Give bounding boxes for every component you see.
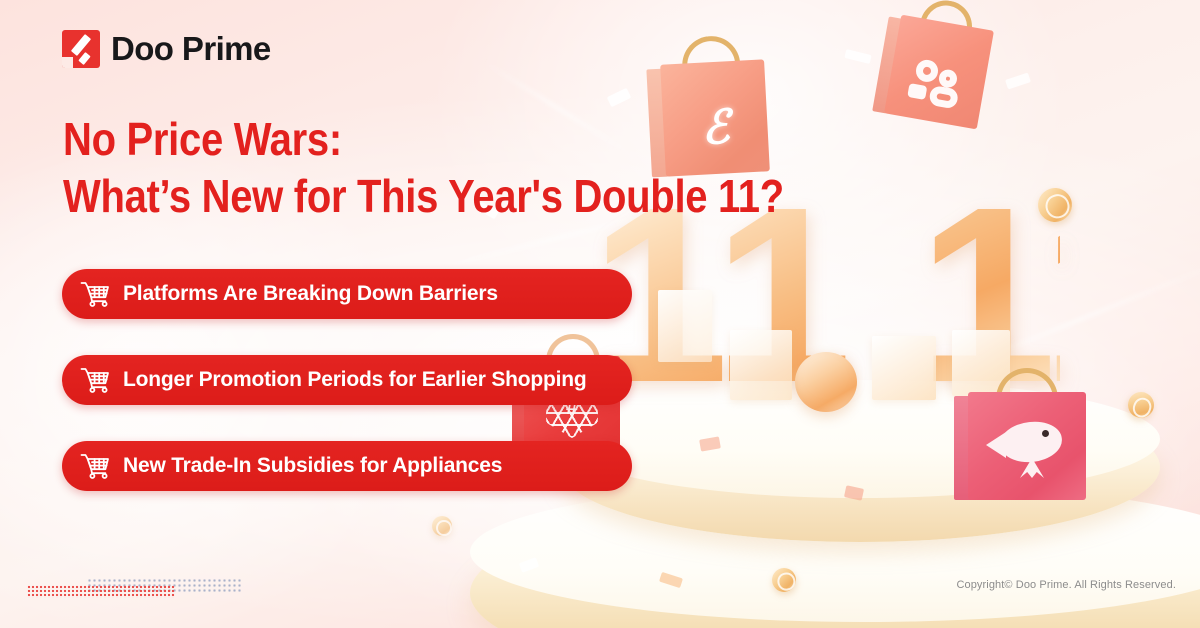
fish-tail (986, 432, 1006, 458)
feature-pill-label: Longer Promotion Periods for Earlier Sho… (123, 368, 587, 392)
logo-notch (62, 57, 73, 68)
bag-handle (996, 368, 1058, 400)
headline-line-1: No Price Wars: (63, 114, 342, 165)
gold-coin-icon (1124, 388, 1158, 422)
podium-upper-tier (560, 392, 1160, 542)
brand-name: Doo Prime (111, 30, 271, 68)
shopping-bag-fish-icon (968, 392, 1086, 500)
fish-fin (1020, 458, 1044, 478)
bag-handle (920, 0, 976, 35)
confetti-chip (519, 557, 539, 573)
confetti-chip (659, 572, 683, 588)
gold-coin-icon (1034, 184, 1077, 227)
headline-line-2: What’s New for This Year's Double 11? (63, 169, 784, 226)
gold-coin-icon (770, 566, 798, 594)
confetti-chip (699, 436, 721, 451)
feature-pill-3[interactable]: New Trade-In Subsidies for Appliances (62, 441, 632, 491)
confetti-chip (607, 88, 632, 108)
bag-ring-mark (914, 58, 939, 83)
fish-eye (1042, 430, 1049, 437)
feature-pill-label: New Trade-In Subsidies for Appliances (123, 454, 502, 478)
numeral-separator-dot (795, 352, 857, 412)
bag-handle (681, 35, 741, 72)
bag-ring-mark (938, 68, 959, 89)
confetti-chip (844, 485, 864, 500)
confetti-chip (1005, 73, 1031, 90)
feature-pill-label: Platforms Are Breaking Down Barriers (123, 282, 498, 306)
bag-front-panel (884, 15, 994, 130)
halftone-dot-strip (27, 578, 243, 600)
promo-banner: 11 11 ℰ # (0, 0, 1200, 628)
bag-ring-mark (907, 83, 927, 100)
podium-upper-top-face (560, 380, 1160, 498)
doo-prime-logo-mark (62, 30, 100, 68)
feature-list: Platforms Are Breaking Down Barriers Lon… (62, 269, 632, 527)
feature-pill-2[interactable]: Longer Promotion Periods for Earlier Sho… (62, 355, 632, 405)
halftone-dots-red (27, 585, 175, 598)
shopping-cart-icon (80, 453, 110, 479)
confetti-card (730, 330, 792, 400)
logo-slash-lower (78, 52, 90, 65)
confetti-chip (844, 49, 871, 64)
logo-slash-upper (71, 34, 91, 56)
fish-body (998, 419, 1064, 465)
shopping-cart-icon (80, 281, 110, 307)
feature-pill-1[interactable]: Platforms Are Breaking Down Barriers (62, 269, 632, 319)
bag-front-panel (968, 392, 1086, 500)
confetti-card (872, 336, 936, 400)
page-title: No Price Wars: What’s New for This Year'… (63, 112, 784, 226)
shopping-cart-icon (80, 367, 110, 393)
bag-ring-mark (928, 85, 959, 110)
confetti-card (952, 330, 1010, 396)
bag-side-panel (872, 16, 903, 113)
bag-side-panel (954, 396, 973, 500)
light-streak (642, 495, 999, 548)
halftone-dots-blue (87, 578, 243, 594)
copyright-text: Copyright© Doo Prime. All Rights Reserve… (956, 579, 1176, 591)
confetti-card (658, 290, 712, 362)
shopping-bag-rings-icon (884, 15, 994, 130)
light-streak (940, 262, 1200, 377)
brand-logo[interactable]: Doo Prime (62, 30, 271, 68)
